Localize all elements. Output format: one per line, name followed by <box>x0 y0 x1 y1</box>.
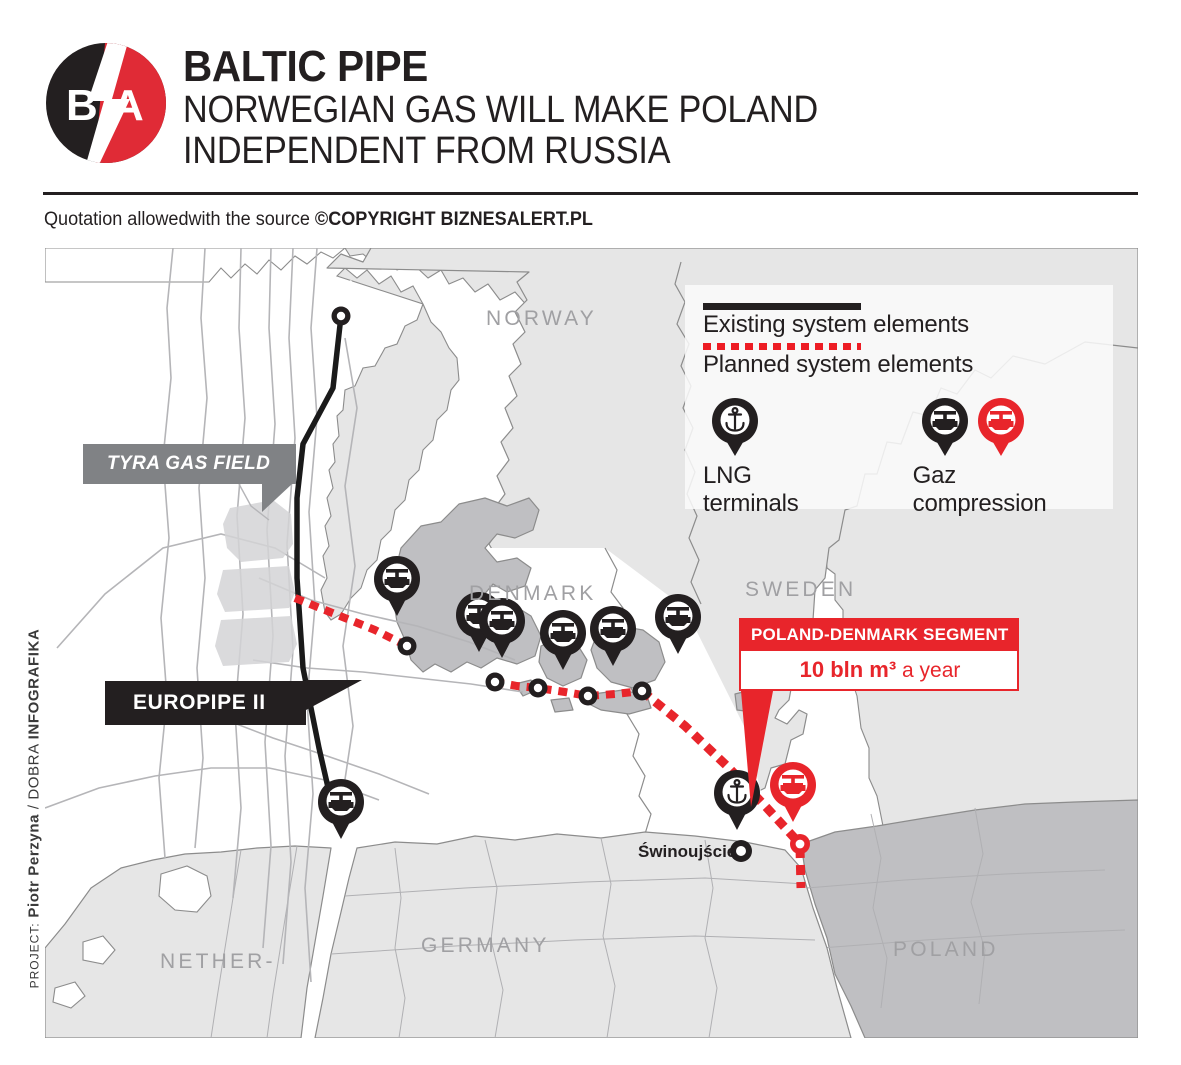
copyright-line: Quotation allowedwith the source ©COPYRI… <box>44 209 593 231</box>
header: B A BALTIC PIPE NORWEGIAN GAS WILL MAKE … <box>0 0 1181 240</box>
subtitle-line-2: INDEPENDENT FROM RUSSIA <box>183 131 818 172</box>
country-label-germany: GERMANY <box>421 934 550 957</box>
legend-panel: Existing system elements Planned system … <box>685 285 1113 509</box>
legend-existing-line-swatch <box>703 303 861 310</box>
copyright-plain: Quotation allowedwith the source <box>44 209 315 230</box>
europipe-tail-icon <box>306 680 376 728</box>
legend-lng-caption: LNG terminals <box>703 462 853 518</box>
callout-title: POLAND-DENMARK SEGMENT <box>739 618 1019 651</box>
header-divider <box>43 192 1138 195</box>
legend-gaz-group: Gaz compression <box>913 392 1095 518</box>
tag-europipe-label: EUROPIPE II <box>133 691 266 714</box>
callout-value: 10 bln m³ <box>800 657 897 682</box>
label-swinoujscie: Świnoujście <box>638 842 736 862</box>
legend-gaz-pins <box>913 392 1027 456</box>
legend-icon-row: LNG terminals <box>703 392 1095 518</box>
country-label-nether: NETHER- <box>160 950 276 973</box>
valve-pin-red-icon <box>975 392 1027 456</box>
legend-existing-label: Existing system elements <box>703 310 1095 340</box>
country-poland <box>801 800 1138 1038</box>
country-label-sweden: SWEDEN <box>745 578 856 601</box>
title-block: BALTIC PIPE NORWEGIAN GAS WILL MAKE POLA… <box>183 44 889 172</box>
studio-name-bold: INFOGRAFIKA <box>26 629 43 740</box>
author-credit: PROJECT: Piotr Perzyna / DOBRA INFOGRAFI… <box>26 579 43 1039</box>
bza-logo-icon: B A <box>44 41 168 165</box>
callout-unit: a year <box>896 659 960 682</box>
tag-tyra-label: TYRA GAS FIELD <box>107 453 270 474</box>
country-label-poland: POLAND <box>893 938 999 961</box>
svg-text:B: B <box>66 81 98 130</box>
callout-poland-denmark-segment: POLAND-DENMARK SEGMENT 10 bln m³ a year <box>739 618 1019 811</box>
tyra-tail-icon <box>262 484 296 514</box>
valve-pin-black-icon <box>919 392 971 456</box>
map-canvas[interactable]: NORWAY DENMARK SWEDEN POLAND GERMANY NET… <box>45 248 1138 1038</box>
legend-lng-pins <box>703 392 761 456</box>
legend-planned-line-swatch <box>703 343 861 350</box>
callout-pointer-tail <box>739 691 1019 811</box>
callout-body: 10 bln m³ a year <box>739 651 1019 691</box>
legend-lng-group: LNG terminals <box>703 392 853 518</box>
page-title: BALTIC PIPE <box>183 44 832 90</box>
country-germany <box>315 832 851 1038</box>
author-credit-separator: / <box>26 800 43 814</box>
legend-gaz-caption: Gaz compression <box>913 462 1095 518</box>
author-credit-label: PROJECT: <box>28 922 42 988</box>
tag-tyra-gas-field: TYRA GAS FIELD <box>83 444 296 484</box>
country-label-denmark: DENMARK <box>469 582 596 605</box>
tag-europipe-ii: EUROPIPE II <box>105 681 306 725</box>
copyright-bold: ©COPYRIGHT BIZNESALERT.PL <box>315 209 593 230</box>
svg-text:A: A <box>112 81 144 130</box>
infographic-root: B A BALTIC PIPE NORWEGIAN GAS WILL MAKE … <box>0 0 1181 1065</box>
tyra-gas-field-shape <box>215 500 297 666</box>
anchor-pin-icon <box>709 392 761 456</box>
studio-name-plain: DOBRA <box>26 739 43 799</box>
legend-planned-label: Planned system elements <box>703 350 1095 380</box>
author-name: Piotr Perzyna <box>26 814 43 918</box>
country-label-norway: NORWAY <box>486 307 597 330</box>
subtitle-line-1: NORWEGIAN GAS WILL MAKE POLAND <box>183 90 818 131</box>
